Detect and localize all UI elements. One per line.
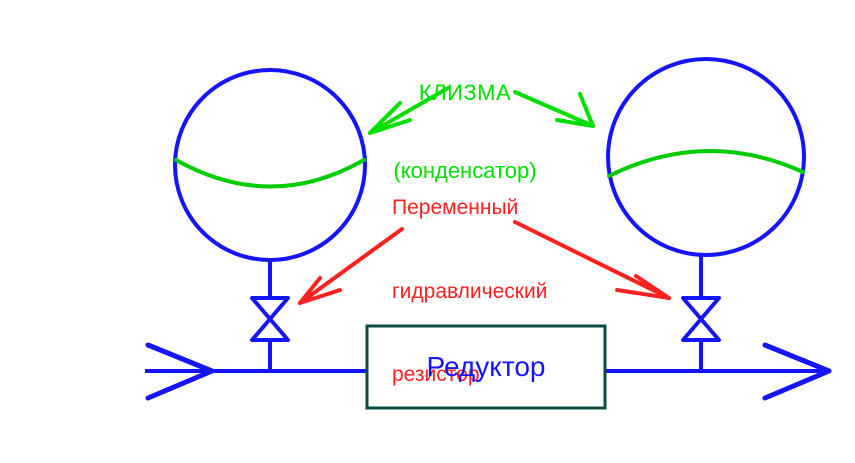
resistor-label-line1: Переменный (392, 194, 592, 222)
right-fluid-level-curve (609, 151, 803, 176)
right-valve-icon (683, 298, 719, 340)
left-fluid-level-curve (176, 160, 364, 187)
right-condenser-balloon (608, 59, 804, 255)
left-condenser-balloon (175, 70, 365, 260)
resistor-label-line2: гидравлический (392, 278, 592, 306)
diagram-canvas: КЛИЗМА (конденсатор) Переменный гидравли… (0, 0, 855, 463)
klizma-label-line1: КЛИЗМА (355, 80, 575, 106)
red-arrow-to-left-valve-icon (300, 229, 402, 303)
reducer-box-label: Редуктор (367, 326, 605, 408)
left-valve-icon (252, 298, 288, 340)
